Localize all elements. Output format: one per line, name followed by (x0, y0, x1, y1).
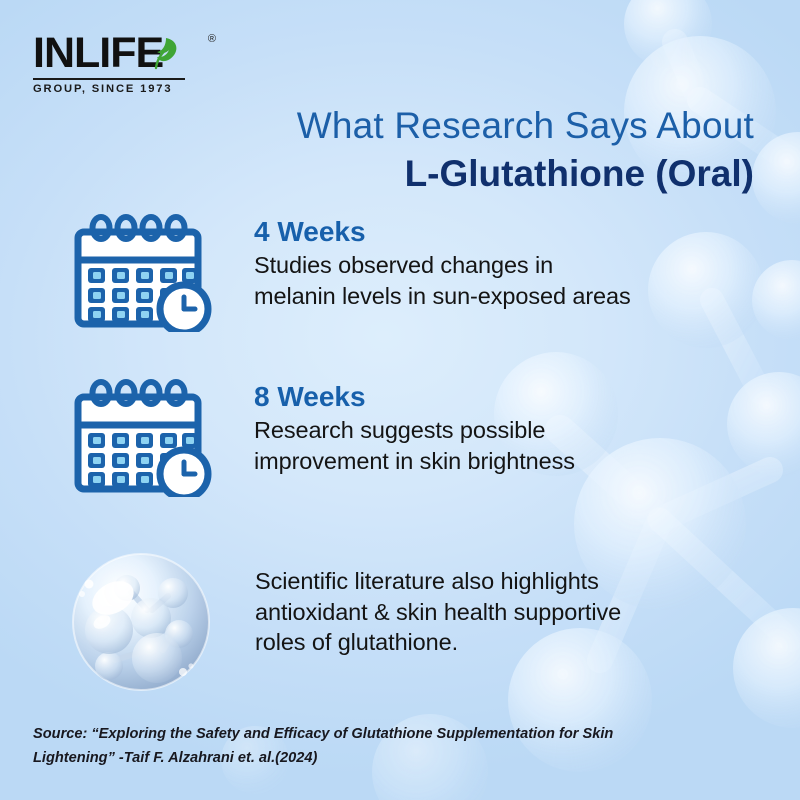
benefit-body-line-1: Studies observed changes in (254, 250, 768, 281)
benefit-body-line-3: roles of glutathione. (255, 627, 765, 658)
benefit-body: Research suggests possible improvement i… (254, 415, 768, 476)
logo-wordmark-text: INLIFE (33, 29, 163, 77)
benefit-body-line-2: melanin levels in sun-exposed areas (254, 281, 768, 312)
source-line-2: Lightening” -Taif F. Alzahrani et. al.(2… (33, 747, 673, 771)
benefit-row-antioxidant: Scientific literature also highlights an… (55, 548, 765, 703)
title-line-1: What Research Says About (0, 104, 754, 148)
leaf-icon (151, 36, 181, 70)
benefit-text-block: Scientific literature also highlights an… (227, 548, 765, 658)
title-line-2: L-Glutathione (Oral) (0, 152, 754, 196)
benefit-heading: 4 Weeks (254, 216, 768, 247)
benefit-body: Scientific literature also highlights an… (255, 566, 765, 658)
logo-wordmark: INLIFE ® (33, 32, 213, 75)
molecule-sphere-icon (55, 548, 227, 703)
registered-trademark-icon: ® (208, 34, 215, 45)
benefit-row-8-weeks: 8 Weeks Research suggests possible impro… (68, 379, 768, 502)
benefit-row-4-weeks: 4 Weeks Studies observed changes in mela… (68, 214, 768, 337)
benefit-text-block: 8 Weeks Research suggests possible impro… (216, 379, 768, 476)
brand-logo: INLIFE ® GROUP, SINCE 1973 (33, 32, 213, 95)
logo-divider (33, 78, 185, 80)
infographic-canvas: INLIFE ® GROUP, SINCE 1973 What Research… (0, 0, 800, 800)
page-title: What Research Says About L-Glutathione (… (0, 104, 780, 196)
source-citation: Source: “Exploring the Safety and Effica… (33, 723, 673, 770)
benefit-body-line-1: Research suggests possible (254, 415, 768, 446)
benefit-body-line-2: antioxidant & skin health supportive (255, 597, 765, 628)
benefit-body-line-1: Scientific literature also highlights (255, 566, 765, 597)
source-line-1: Source: “Exploring the Safety and Effica… (33, 723, 673, 747)
benefit-body-line-2: improvement in skin brightness (254, 446, 768, 477)
calendar-clock-icon (68, 379, 216, 502)
benefit-heading: 8 Weeks (254, 381, 768, 412)
benefit-text-block: 4 Weeks Studies observed changes in mela… (216, 214, 768, 311)
logo-tagline: GROUP, SINCE 1973 (33, 83, 213, 95)
calendar-clock-icon (68, 214, 216, 337)
benefit-body: Studies observed changes in melanin leve… (254, 250, 768, 311)
